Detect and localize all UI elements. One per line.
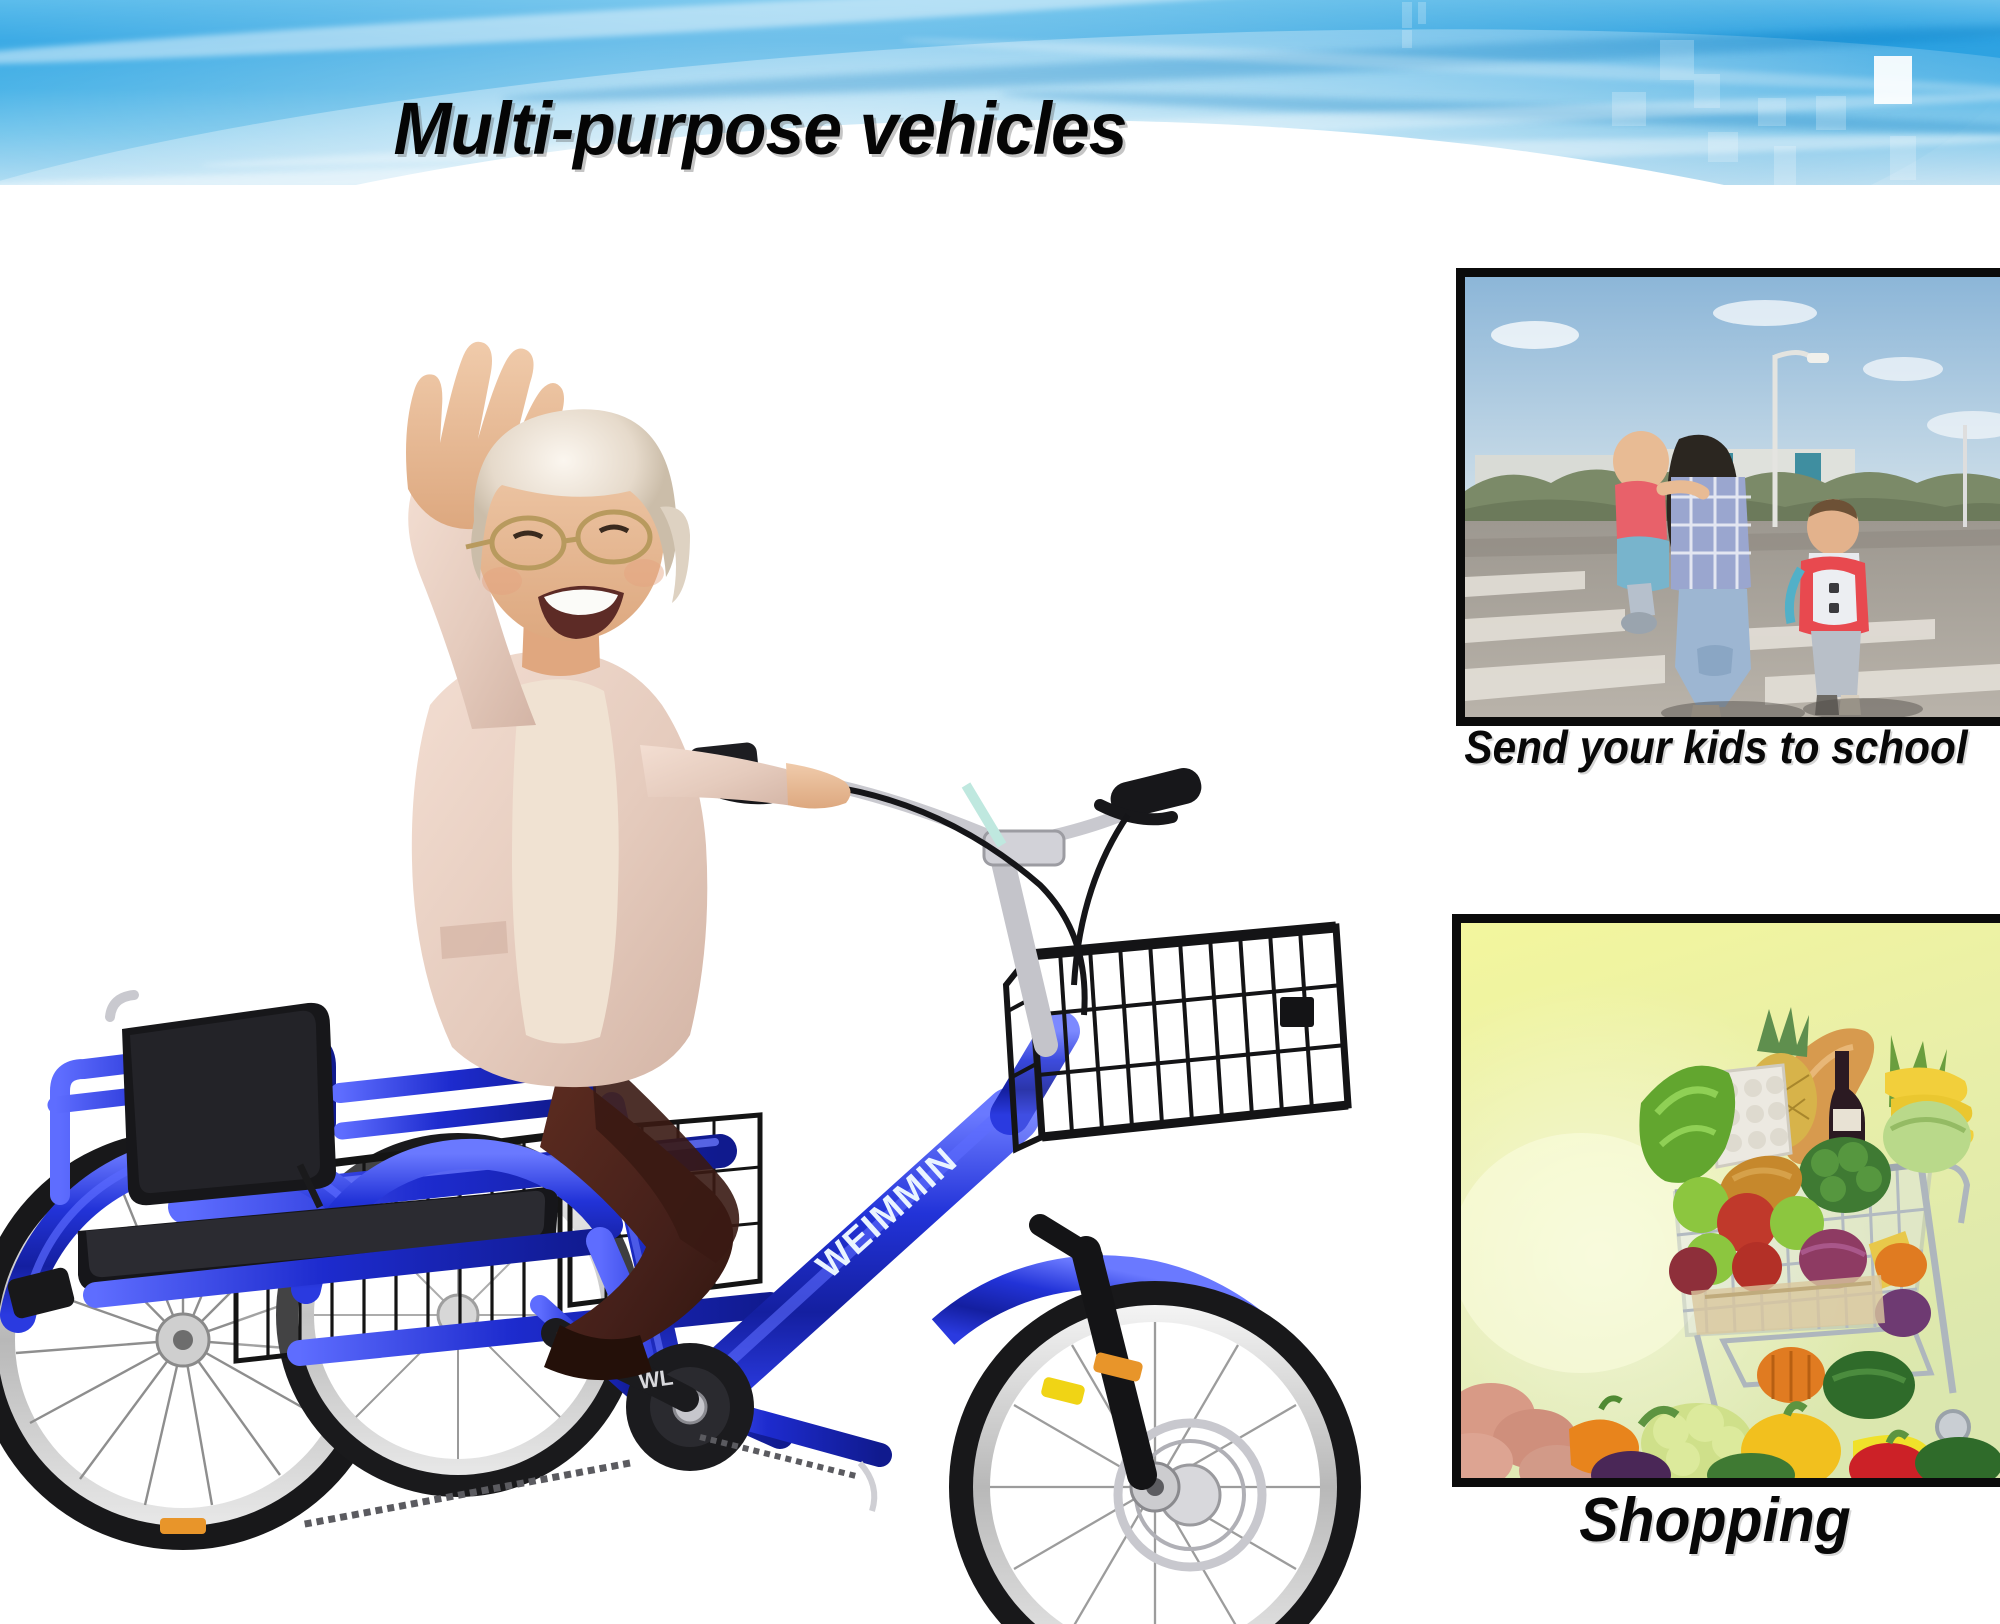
banner-square-5 <box>1694 74 1720 108</box>
banner-square-6 <box>1874 56 1912 104</box>
rider-grip-hand <box>786 763 851 809</box>
school-photo <box>1456 268 2000 726</box>
banner-square-3 <box>1402 30 1412 48</box>
shopping-scene <box>1461 923 2000 1478</box>
banner-square-12 <box>1774 146 1796 185</box>
product-image: WL WEIMMIN <box>0 185 1430 1624</box>
school-scene <box>1465 277 2000 717</box>
banner-square-10 <box>1708 132 1738 162</box>
banner-square-11 <box>1890 136 1916 180</box>
tricycle-illustration: WL WEIMMIN <box>0 185 1430 1624</box>
shopping-caption: Shopping <box>1444 1485 1986 1556</box>
page-title: Multi-purpose vehicles <box>46 86 1475 171</box>
figure-mother <box>1667 435 1751 717</box>
banner-square-9 <box>1816 96 1846 130</box>
front-wheel <box>943 1225 1361 1624</box>
banner-square-1 <box>1402 2 1412 28</box>
banner-square-4 <box>1660 40 1694 80</box>
banner-square-8 <box>1758 98 1786 126</box>
banner-square-2 <box>1418 2 1426 24</box>
banner-square-7 <box>1612 92 1646 126</box>
front-basket <box>1006 927 1348 1149</box>
side-panel: Send your kids to school <box>1430 185 2000 1624</box>
school-caption: Send your kids to school <box>1449 720 1983 774</box>
shopping-photo <box>1452 914 2000 1487</box>
basket-bracket <box>1280 997 1314 1027</box>
derailleur <box>860 1463 874 1511</box>
